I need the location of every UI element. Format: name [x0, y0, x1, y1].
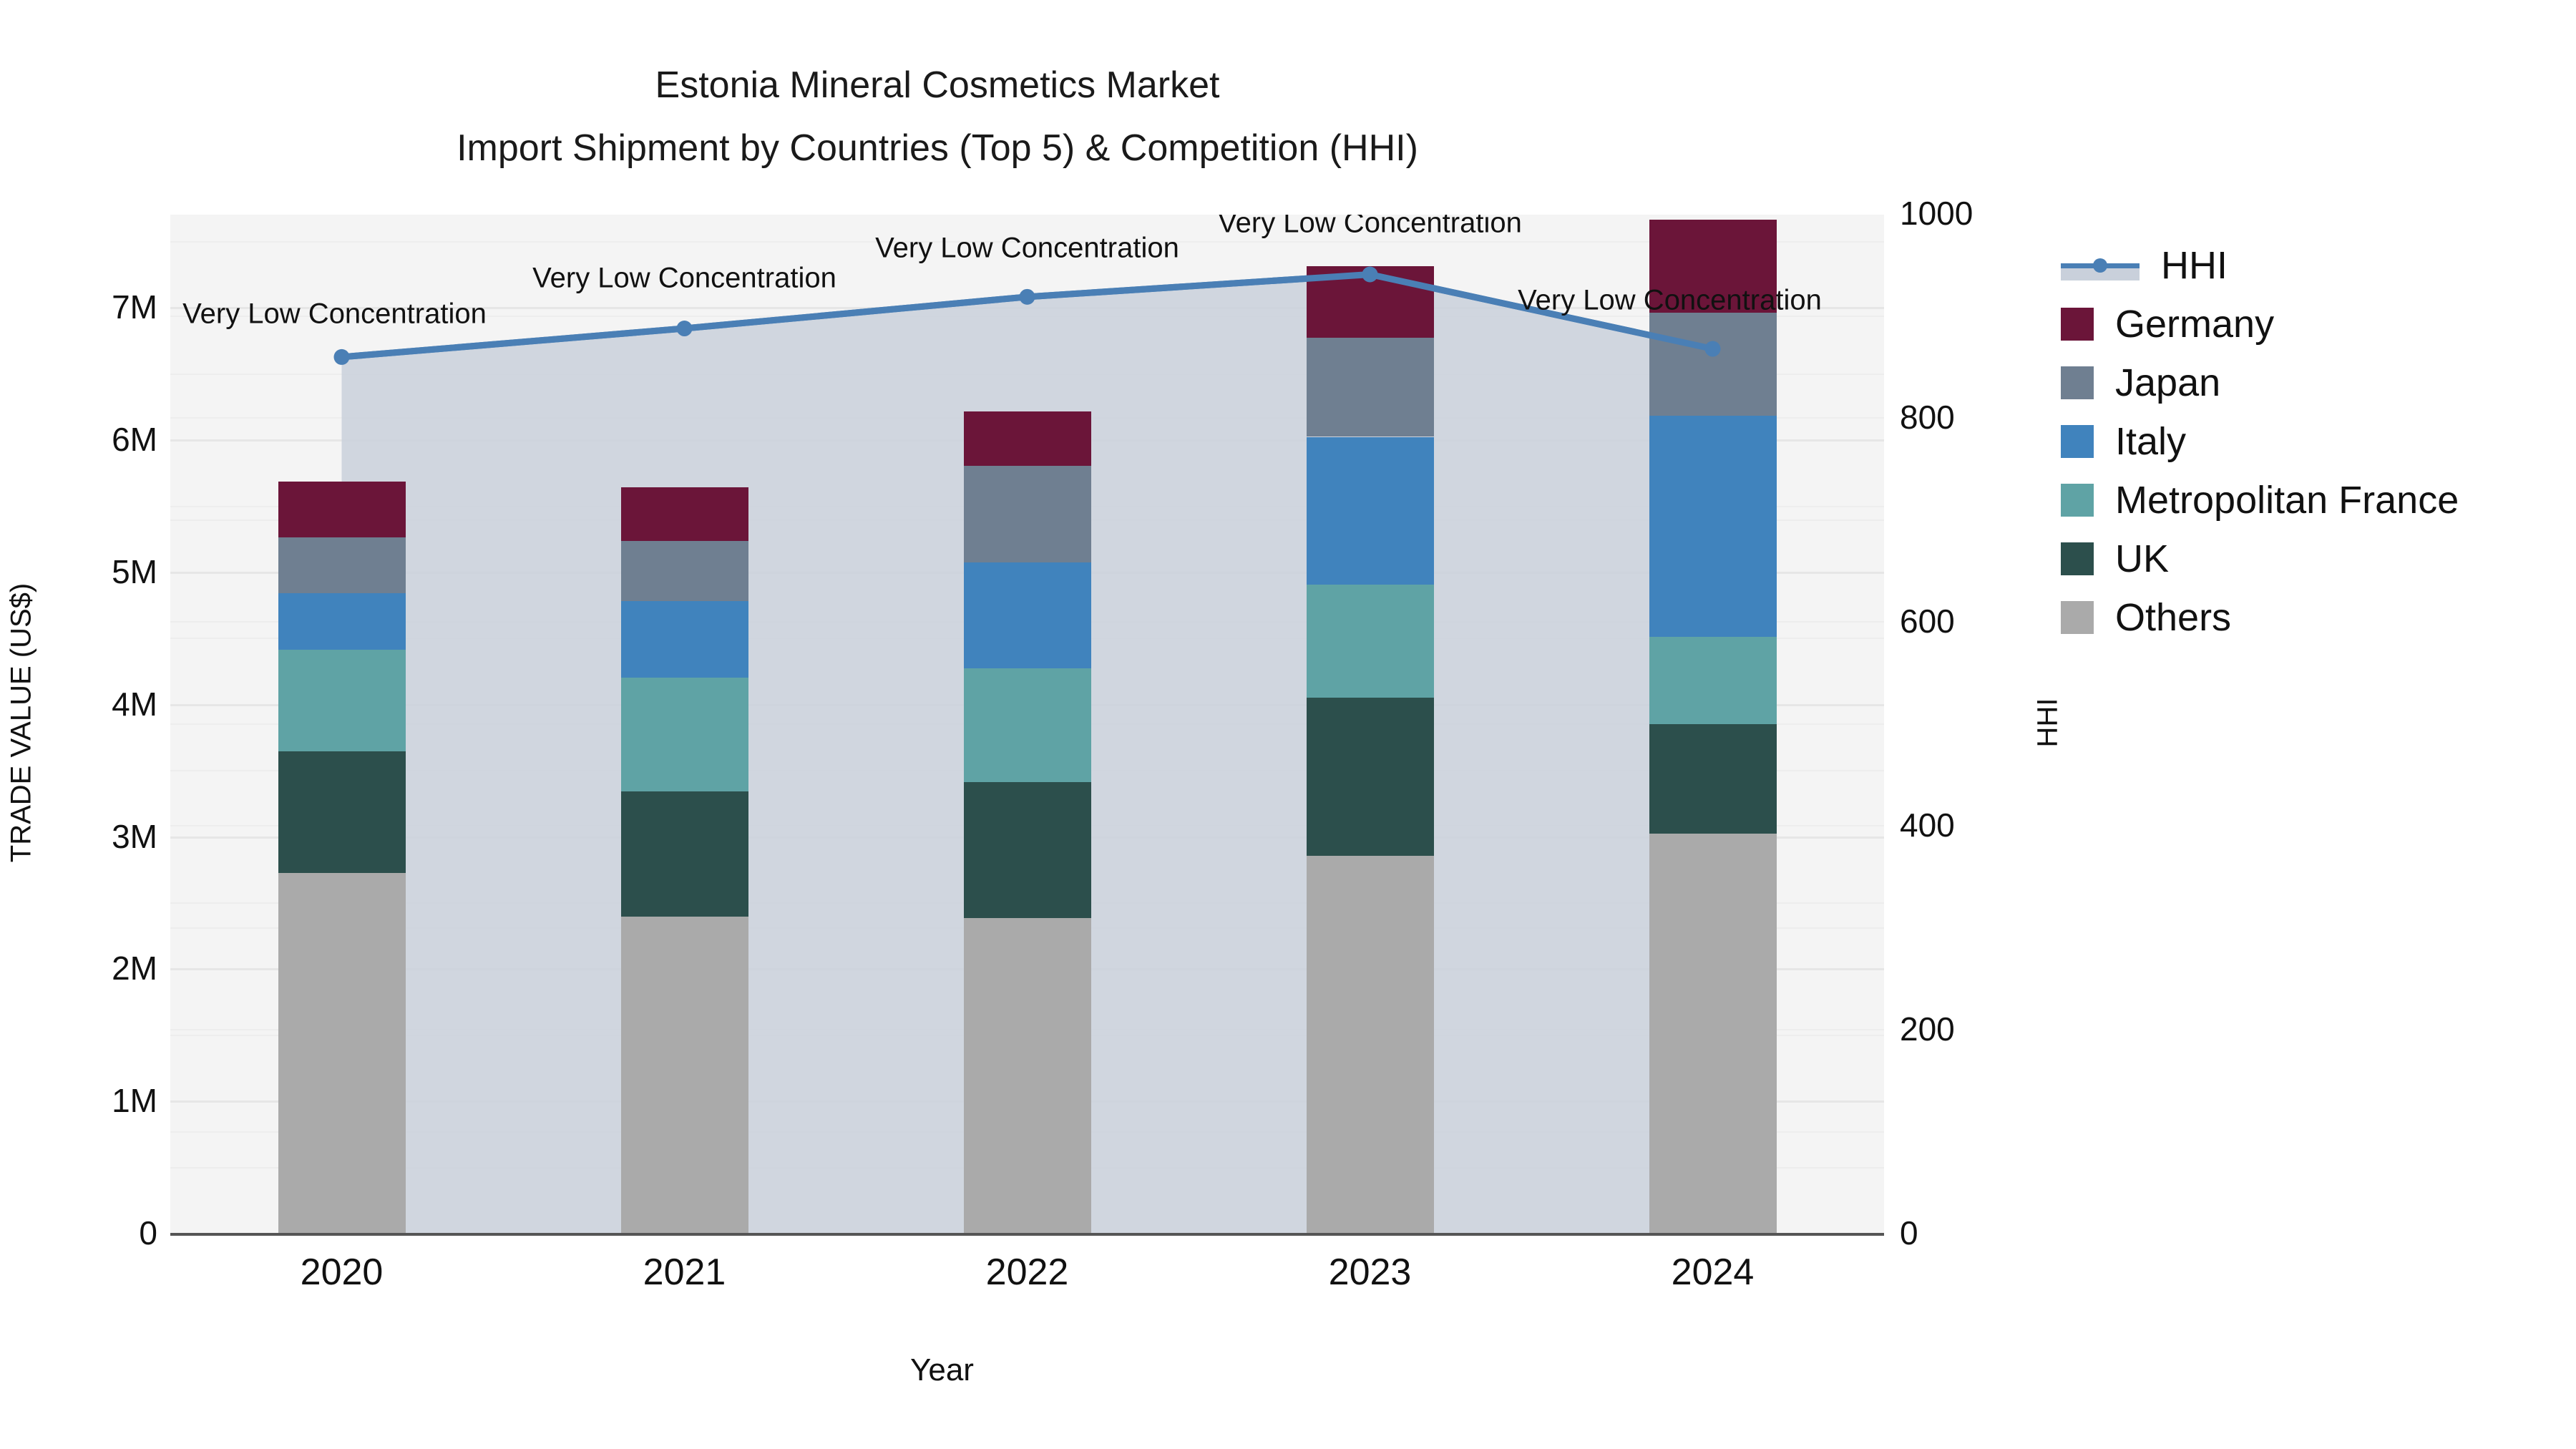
legend-item-hhi[interactable]: HHI — [2061, 236, 2562, 295]
legend-label: Metropolitan France — [2115, 478, 2459, 522]
y-axis-left-tick: 5M — [112, 552, 157, 591]
y-axis-right-tick: 400 — [1900, 806, 1955, 844]
x-axis-tick-2021: 2021 — [643, 1251, 726, 1294]
chart-title-line-2: Import Shipment by Countries (Top 5) & C… — [0, 117, 1875, 180]
legend-label: Italy — [2115, 419, 2186, 464]
legend-label: Japan — [2115, 361, 2220, 405]
annotation-label: Very Low Concentration — [1218, 215, 1522, 239]
annotation-label: Very Low Concentration — [182, 298, 487, 330]
y-axis-left-tick: 0 — [139, 1214, 157, 1252]
y-axis-left-tick: 3M — [112, 817, 157, 856]
x-axis-tick-2024: 2024 — [1672, 1251, 1755, 1294]
x-axis-title: Year — [0, 1352, 1884, 1388]
legend-label: HHI — [2161, 243, 2228, 288]
legend-item-uk[interactable]: UK — [2061, 530, 2562, 588]
legend-label: Others — [2115, 595, 2231, 640]
chart-canvas: Estonia Mineral Cosmetics Market Import … — [0, 0, 2576, 1449]
y-axis-left-tick: 2M — [112, 949, 157, 987]
legend-line-icon — [2061, 249, 2140, 282]
legend-swatch-icon — [2061, 601, 2094, 634]
y-axis-left-tick: 1M — [112, 1081, 157, 1120]
y-axis-left-tick: 6M — [112, 420, 157, 459]
legend-item-metropolitan-france[interactable]: Metropolitan France — [2061, 471, 2562, 530]
y-axis-left-tick: 4M — [112, 685, 157, 723]
legend-item-japan[interactable]: Japan — [2061, 353, 2562, 412]
hhi-point-marker[interactable] — [1020, 289, 1035, 305]
y-axis-left-title: TRADE VALUE (US$) — [6, 583, 38, 862]
x-axis-tick-2020: 2020 — [301, 1251, 384, 1294]
chart-legend: HHIGermanyJapanItalyMetropolitan FranceU… — [2061, 236, 2562, 647]
y-axis-right-title-wrap: HHI — [2048, 0, 2049, 1449]
annotation-label: Very Low Concentration — [532, 263, 836, 295]
y-axis-left-title-wrap: TRADE VALUE (US$) — [30, 0, 31, 1449]
chart-title-line-1: Estonia Mineral Cosmetics Market — [0, 54, 1875, 117]
hhi-point-marker[interactable] — [1362, 267, 1378, 283]
y-axis-right-tick: 600 — [1900, 602, 1955, 640]
x-axis-tick-2023: 2023 — [1329, 1251, 1412, 1294]
y-axis-right-tick: 0 — [1900, 1214, 1918, 1252]
legend-item-italy[interactable]: Italy — [2061, 412, 2562, 471]
hhi-markers — [170, 215, 1884, 1233]
y-axis-right-tick: 800 — [1900, 398, 1955, 436]
y-axis-right-tick: 1000 — [1900, 194, 1973, 233]
legend-label: Germany — [2115, 302, 2274, 346]
plot-area: Very Low ConcentrationVery Low Concentra… — [170, 215, 1884, 1233]
x-axis-tick-2022: 2022 — [986, 1251, 1069, 1294]
hhi-point-marker[interactable] — [334, 349, 350, 365]
legend-swatch-icon — [2061, 366, 2094, 399]
hhi-point-marker[interactable] — [677, 321, 693, 336]
annotation-label: Very Low Concentration — [875, 232, 1179, 264]
legend-swatch-icon — [2061, 308, 2094, 341]
legend-swatch-icon — [2061, 425, 2094, 458]
y-axis-right-title: HHI — [2032, 698, 2064, 748]
annotation-label: Very Low Concentration — [1518, 284, 1822, 316]
legend-swatch-icon — [2061, 542, 2094, 575]
x-axis-line — [170, 1233, 1884, 1236]
legend-item-others[interactable]: Others — [2061, 588, 2562, 647]
y-axis-left-tick: 7M — [112, 288, 157, 326]
chart-title: Estonia Mineral Cosmetics Market Import … — [0, 54, 1875, 180]
y-axis-right-tick: 200 — [1900, 1010, 1955, 1048]
legend-swatch-icon — [2061, 484, 2094, 517]
hhi-point-marker[interactable] — [1705, 341, 1721, 357]
legend-item-germany[interactable]: Germany — [2061, 295, 2562, 353]
legend-label: UK — [2115, 537, 2169, 581]
